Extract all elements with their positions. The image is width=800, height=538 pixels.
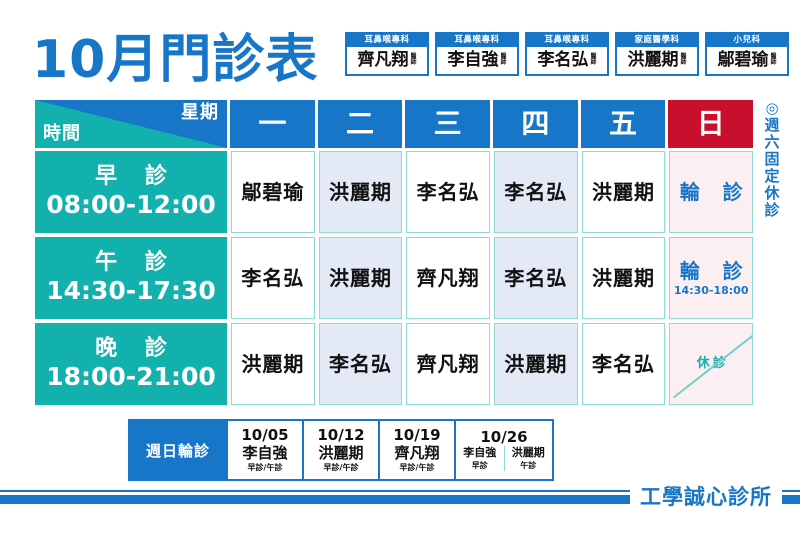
day-header-thu: 四 (493, 100, 578, 148)
schedule-cell: 洪麗期 (582, 151, 666, 233)
rotation-doctor: 齊凡翔 (394, 444, 439, 462)
schedule-cell: 洪麗期 (319, 237, 403, 319)
doctor-name-wrap: 李名弘醫師 (527, 47, 607, 74)
rotation-entries: 10/05李自強早診/午診10/12洪麗期早診/午診10/19齊凡翔早診/午診1… (226, 421, 552, 479)
day-header-wed: 三 (405, 100, 490, 148)
doctor-badge: 耳鼻喉專科齊凡翔醫師 (345, 32, 429, 76)
clinic-name: 工學誠心診所 (630, 484, 782, 510)
cell-doctor-name: 李名弘 (241, 266, 304, 290)
cell-doctor-name: 李名弘 (504, 180, 567, 204)
doctor-badge: 耳鼻喉專科李名弘醫師 (525, 32, 609, 76)
cell-doctor-name: 洪麗期 (592, 180, 655, 204)
rotation-entry: 10/05李自強早診/午診 (226, 421, 302, 479)
doctor-name-wrap: 洪麗期醫師 (617, 47, 697, 74)
rotation-sessions: 早診/午診 (248, 462, 283, 473)
table-body: 早 診08:00-12:00鄔碧瑜洪麗期李名弘李名弘洪麗期輪 診午 診14:30… (35, 151, 753, 405)
schedule-cell: 李名弘 (231, 237, 315, 319)
rotation-doctor: 洪麗期 (512, 446, 545, 460)
cell-doctor-name: 鄔碧瑜 (241, 180, 304, 204)
note-char: 週 (759, 117, 785, 134)
schedule-cell-sunday: 輪 診14:30-18:00 (669, 237, 753, 319)
table-row: 晚 診18:00-21:00洪麗期李名弘齊凡翔洪麗期李名弘休診 (35, 323, 753, 405)
session-time-cell: 早 診08:00-12:00 (35, 151, 227, 233)
day-header-fri: 五 (581, 100, 666, 148)
doctor-title-suffix: 醫師 (680, 54, 686, 66)
rotation-entry: 10/19齊凡翔早診/午診 (378, 421, 454, 479)
doctor-specialty: 小兒科 (707, 34, 787, 47)
rotation-date: 10/05 (241, 427, 288, 444)
cell-doctor-name: 李名弘 (417, 180, 480, 204)
saturday-closed-note: ◎週六固定休診 (759, 100, 785, 219)
rotation-sessions: 早診/午診 (324, 462, 359, 473)
schedule-table: 星期 時間 一 二 三 四 五 日 早 診08:00-12:00鄔碧瑜洪麗期李名… (35, 100, 753, 409)
schedule-cell-sunday: 輪 診 (669, 151, 753, 233)
schedule-cell: 鄔碧瑜 (231, 151, 315, 233)
schedule-cell: 洪麗期 (494, 323, 578, 405)
rotation-sessions: 午診 (520, 460, 536, 471)
rotation-doctor: 李自強 (242, 444, 287, 462)
doctor-title-suffix: 醫師 (500, 54, 506, 66)
page-title: 10月門診表 (32, 34, 318, 86)
doctor-name: 李名弘 (537, 50, 588, 70)
doctor-badge-list: 耳鼻喉專科齊凡翔醫師耳鼻喉專科李自強醫師耳鼻喉專科李名弘醫師家庭醫學科洪麗期醫師… (345, 32, 789, 76)
schedule-poster: 10月門診表 耳鼻喉專科齊凡翔醫師耳鼻喉專科李自強醫師耳鼻喉專科李名弘醫師家庭醫… (0, 0, 800, 538)
corner-header-cell: 星期 時間 (35, 100, 227, 148)
schedule-cell: 齊凡翔 (406, 323, 490, 405)
rotation-split: 李自強早診洪麗期午診 (456, 446, 552, 471)
cell-sunday-status: 輪 診 (672, 259, 751, 283)
table-header-row: 星期 時間 一 二 三 四 五 日 (35, 100, 753, 148)
doctor-name: 李自強 (447, 50, 498, 70)
note-char: 定 (759, 168, 785, 185)
doctor-title-suffix: 醫師 (590, 54, 596, 66)
rotation-doctor: 李自強 (463, 446, 496, 460)
rotation-sessions: 早診 (472, 460, 488, 471)
schedule-cell: 李名弘 (319, 323, 403, 405)
session-time-cell: 午 診14:30-17:30 (35, 237, 227, 319)
time-axis-label: 時間 (43, 124, 81, 144)
cell-sunday-status: 休診 (694, 352, 729, 376)
session-name: 早 診 (85, 164, 177, 190)
cell-doctor-name: 洪麗期 (329, 180, 392, 204)
doctor-name-wrap: 李自強醫師 (437, 47, 517, 74)
schedule-cell: 李名弘 (494, 237, 578, 319)
schedule-cell: 洪麗期 (319, 151, 403, 233)
cell-doctor-name: 李名弘 (592, 352, 655, 376)
doctor-badge: 小兒科鄔碧瑜醫師 (705, 32, 789, 76)
weekday-axis-label: 星期 (181, 103, 219, 123)
schedule-cell-sunday: 休診 (669, 323, 753, 405)
doctor-specialty: 耳鼻喉專科 (347, 34, 427, 47)
table-row: 早 診08:00-12:00鄔碧瑜洪麗期李名弘李名弘洪麗期輪 診 (35, 151, 753, 233)
note-bullet-icon: ◎ (759, 100, 785, 117)
rotation-entry: 10/12洪麗期早診/午診 (302, 421, 378, 479)
note-char: 固 (759, 151, 785, 168)
poster-footer: 工學誠心診所 (0, 490, 800, 516)
doctor-badge: 耳鼻喉專科李自強醫師 (435, 32, 519, 76)
schedule-cell: 洪麗期 (231, 323, 315, 405)
session-hours: 08:00-12:00 (46, 190, 216, 220)
schedule-cell: 李名弘 (582, 323, 666, 405)
schedule-cell: 李名弘 (494, 151, 578, 233)
cell-doctor-name: 齊凡翔 (417, 352, 480, 376)
doctor-title-suffix: 醫師 (410, 54, 416, 66)
note-char: 六 (759, 134, 785, 151)
sunday-rotation-table: 週日輪診 10/05李自強早診/午診10/12洪麗期早診/午診10/19齊凡翔早… (128, 419, 554, 481)
doctor-badge: 家庭醫學科洪麗期醫師 (615, 32, 699, 76)
rotation-half-afternoon: 洪麗期午診 (504, 446, 553, 471)
schedule-cell: 李名弘 (406, 151, 490, 233)
doctor-title-suffix: 醫師 (770, 54, 776, 66)
session-hours: 14:30-17:30 (46, 276, 216, 306)
cell-doctor-name: 齊凡翔 (417, 266, 480, 290)
cell-doctor-name: 李名弘 (329, 352, 392, 376)
day-header-sun: 日 (668, 100, 753, 148)
rotation-date: 10/19 (393, 427, 440, 444)
poster-header: 10月門診表 耳鼻喉專科齊凡翔醫師耳鼻喉專科李自強醫師耳鼻喉專科李名弘醫師家庭醫… (0, 18, 800, 90)
rotation-date: 10/12 (317, 427, 364, 444)
doctor-specialty: 耳鼻喉專科 (437, 34, 517, 47)
rotation-doctor: 洪麗期 (318, 444, 363, 462)
cell-doctor-name: 洪麗期 (504, 352, 567, 376)
doctor-name-wrap: 齊凡翔醫師 (347, 47, 427, 74)
doctor-specialty: 耳鼻喉專科 (527, 34, 607, 47)
doctor-name: 鄔碧瑜 (717, 50, 768, 70)
session-name: 午 診 (85, 250, 177, 276)
cell-sunday-status: 輪 診 (672, 180, 751, 204)
session-name: 晚 診 (85, 336, 177, 362)
session-time-cell: 晚 診18:00-21:00 (35, 323, 227, 405)
schedule-cell: 齊凡翔 (406, 237, 490, 319)
cell-doctor-name: 洪麗期 (241, 352, 304, 376)
rotation-half-morning: 李自強早診 (456, 446, 504, 471)
table-row: 午 診14:30-17:30李名弘洪麗期齊凡翔李名弘洪麗期輪 診14:30-18… (35, 237, 753, 319)
doctor-specialty: 家庭醫學科 (617, 34, 697, 47)
note-char: 診 (759, 202, 785, 219)
cell-doctor-name: 洪麗期 (329, 266, 392, 290)
day-header-tue: 二 (318, 100, 403, 148)
session-hours: 18:00-21:00 (46, 362, 216, 392)
cell-doctor-name: 洪麗期 (592, 266, 655, 290)
rotation-date: 10/26 (480, 429, 527, 446)
note-char: 休 (759, 185, 785, 202)
doctor-name: 齊凡翔 (357, 50, 408, 70)
cell-sunday-hours: 14:30-18:00 (674, 284, 749, 298)
doctor-name-wrap: 鄔碧瑜醫師 (707, 47, 787, 74)
doctor-name: 洪麗期 (627, 50, 678, 70)
rotation-sessions: 早診/午診 (400, 462, 435, 473)
cell-doctor-name: 李名弘 (504, 266, 567, 290)
rotation-entry: 10/26李自強早診洪麗期午診 (454, 421, 552, 479)
day-header-mon: 一 (230, 100, 315, 148)
rotation-label: 週日輪診 (130, 421, 226, 479)
schedule-cell: 洪麗期 (582, 237, 666, 319)
